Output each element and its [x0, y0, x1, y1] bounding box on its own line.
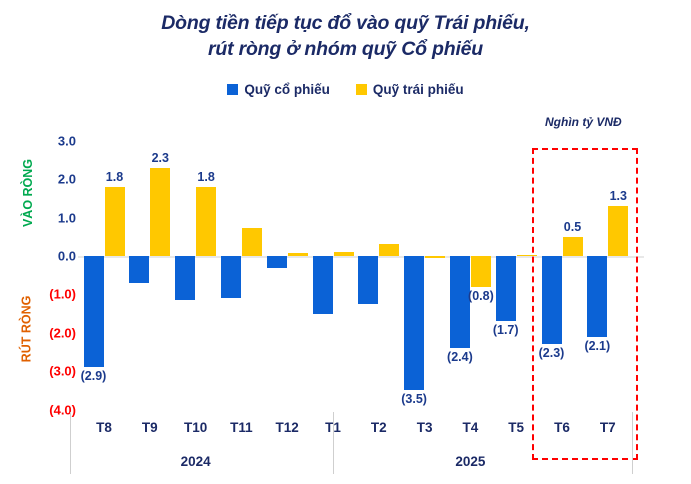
- bar-label-bond-T10: 1.8: [183, 170, 229, 184]
- x-axis-tick-T8[interactable]: T8: [81, 420, 127, 435]
- unit-note: Nghìn tỷ VNĐ: [545, 115, 622, 129]
- y-axis-tick-6: (3.0): [32, 364, 76, 379]
- x-axis-tick-T3[interactable]: T3: [402, 420, 448, 435]
- y-axis-tick-0: 3.0: [32, 133, 76, 148]
- bar-equity-T10[interactable]: [175, 256, 195, 300]
- legend-item-equity[interactable]: Quỹ cổ phiếu: [227, 82, 330, 97]
- x-axis-year-2025: 2025: [410, 454, 530, 469]
- bar-label-equity-T4: (2.4): [437, 350, 483, 364]
- chart-title: Dòng tiền tiếp tục đổ vào quỹ Trái phiếu…: [0, 10, 691, 62]
- bar-label-bond-T6: 0.5: [550, 220, 596, 234]
- x-axis-tick-T5[interactable]: T5: [493, 420, 539, 435]
- bar-label-equity-T7: (2.1): [574, 339, 620, 353]
- x-axis: T8T9T10T11T12T1T2T3T4T5T6T720242025: [0, 412, 691, 484]
- bar-equity-T11[interactable]: [221, 256, 241, 298]
- bar-equity-T3[interactable]: [404, 256, 424, 390]
- bar-bond-T8[interactable]: [105, 187, 125, 256]
- plot-area: (2.9)(3.5)(2.4)(1.7)(2.3)(2.1)1.82.31.8(…: [78, 140, 678, 410]
- bar-equity-T12[interactable]: [267, 256, 287, 268]
- bar-equity-T2[interactable]: [358, 256, 378, 304]
- bar-bond-T9[interactable]: [150, 168, 170, 256]
- y-axis-tick-2: 1.0: [32, 210, 76, 225]
- x-axis-separator-0: [70, 412, 71, 474]
- bar-equity-T6[interactable]: [542, 256, 562, 344]
- bar-bond-T1[interactable]: [334, 252, 354, 256]
- bar-label-equity-T8: (2.9): [71, 369, 117, 383]
- y-axis-tick-3: 0.0: [32, 249, 76, 264]
- bar-label-equity-T6: (2.3): [529, 346, 575, 360]
- x-axis-year-2024: 2024: [136, 454, 256, 469]
- legend-swatch-equity: [227, 84, 238, 95]
- x-axis-separator-2: [632, 412, 633, 474]
- bar-label-bond-T9: 2.3: [137, 151, 183, 165]
- chart-legend: Quỹ cổ phiếu Quỹ trái phiếu: [0, 82, 691, 97]
- bar-bond-T5[interactable]: [517, 255, 537, 257]
- x-axis-tick-T10[interactable]: T10: [173, 420, 219, 435]
- chart-container: Dòng tiền tiếp tục đổ vào quỹ Trái phiếu…: [0, 0, 691, 484]
- bar-label-bond-T8: 1.8: [92, 170, 138, 184]
- bar-bond-T3[interactable]: [425, 256, 445, 258]
- bar-equity-T9[interactable]: [129, 256, 149, 283]
- bar-bond-T10[interactable]: [196, 187, 216, 256]
- legend-swatch-bond: [356, 84, 367, 95]
- bar-equity-T8[interactable]: [84, 256, 104, 367]
- bar-bond-T4[interactable]: [471, 256, 491, 287]
- x-axis-separator-1: [333, 412, 334, 474]
- bar-bond-T7[interactable]: [608, 206, 628, 256]
- bar-bond-T6[interactable]: [563, 237, 583, 256]
- bar-label-equity-T3: (3.5): [391, 392, 437, 406]
- x-axis-tick-T7[interactable]: T7: [585, 420, 631, 435]
- legend-item-bond[interactable]: Quỹ trái phiếu: [356, 82, 464, 97]
- bar-equity-T7[interactable]: [587, 256, 607, 337]
- x-axis-tick-T2[interactable]: T2: [356, 420, 402, 435]
- bar-label-bond-T4: (0.8): [458, 289, 504, 303]
- bar-bond-T11[interactable]: [242, 228, 262, 256]
- y-axis-tick-4: (1.0): [32, 287, 76, 302]
- chart-title-line-2: rút ròng ở nhóm quỹ Cổ phiếu: [0, 36, 691, 62]
- bar-bond-T12[interactable]: [288, 253, 308, 256]
- x-axis-tick-T6[interactable]: T6: [539, 420, 585, 435]
- x-axis-tick-T9[interactable]: T9: [127, 420, 173, 435]
- x-axis-tick-T4[interactable]: T4: [447, 420, 493, 435]
- y-axis-tick-1: 2.0: [32, 172, 76, 187]
- x-axis-tick-T12[interactable]: T12: [264, 420, 310, 435]
- x-axis-tick-T11[interactable]: T11: [218, 420, 264, 435]
- y-axis-tick-5: (2.0): [32, 325, 76, 340]
- y-axis: 3.02.01.00.0(1.0)(2.0)(3.0)(4.0): [26, 140, 76, 410]
- bar-bond-T2[interactable]: [379, 244, 399, 256]
- bar-label-equity-T5: (1.7): [483, 323, 529, 337]
- legend-label-bond: Quỹ trái phiếu: [373, 82, 464, 97]
- bar-label-bond-T7: 1.3: [595, 189, 641, 203]
- bar-equity-T1[interactable]: [313, 256, 333, 314]
- legend-label-equity: Quỹ cổ phiếu: [244, 82, 330, 97]
- chart-title-line-1: Dòng tiền tiếp tục đổ vào quỹ Trái phiếu…: [0, 10, 691, 36]
